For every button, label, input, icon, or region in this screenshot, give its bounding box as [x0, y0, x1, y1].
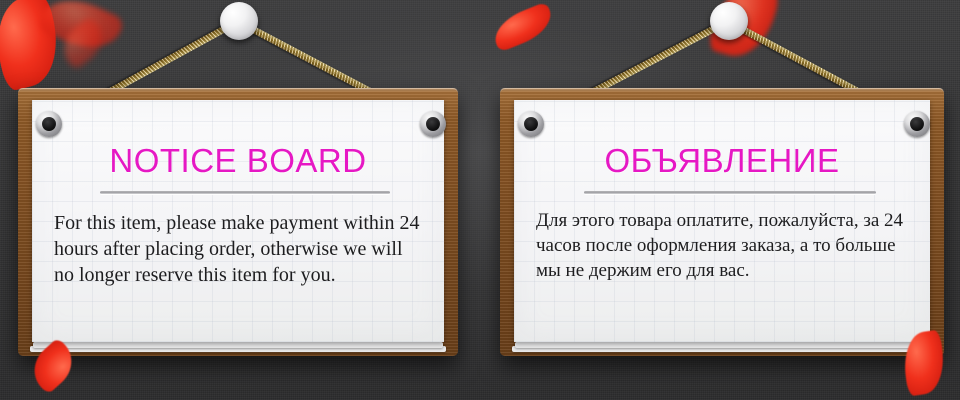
notice-paper-english: NOTICE BOARD For this item, please make …	[32, 100, 444, 342]
rose-petal-icon	[489, 1, 558, 52]
rose-petal-icon	[54, 15, 111, 70]
grommet-eyelet	[518, 111, 544, 137]
notice-title-russian: ОБЪЯВЛЕНИЕ	[514, 142, 930, 180]
nail-left-panel	[220, 2, 258, 40]
notice-body-russian: Для этого товара оплатите, пожалуйста, з…	[536, 208, 914, 283]
title-divider-english	[100, 191, 390, 194]
rose-petal-icon	[36, 0, 125, 60]
grommet-eyelet	[904, 111, 930, 137]
paper-stack-sheet	[515, 342, 929, 348]
title-divider-russian	[584, 191, 876, 194]
notice-paper-russian: ОБЪЯВЛЕНИЕ Для этого товара оплатите, по…	[514, 100, 930, 342]
rose-petal-icon	[0, 0, 68, 92]
grommet-eyelet	[36, 111, 62, 137]
notice-title-english: NOTICE BOARD	[32, 142, 444, 180]
notice-body-english: For this item, please make payment withi…	[54, 210, 426, 288]
grommet-eyelet	[420, 111, 446, 137]
rose-petal-icon	[707, 0, 781, 64]
nail-right-panel	[710, 2, 748, 40]
paper-stack-sheet	[33, 342, 443, 348]
